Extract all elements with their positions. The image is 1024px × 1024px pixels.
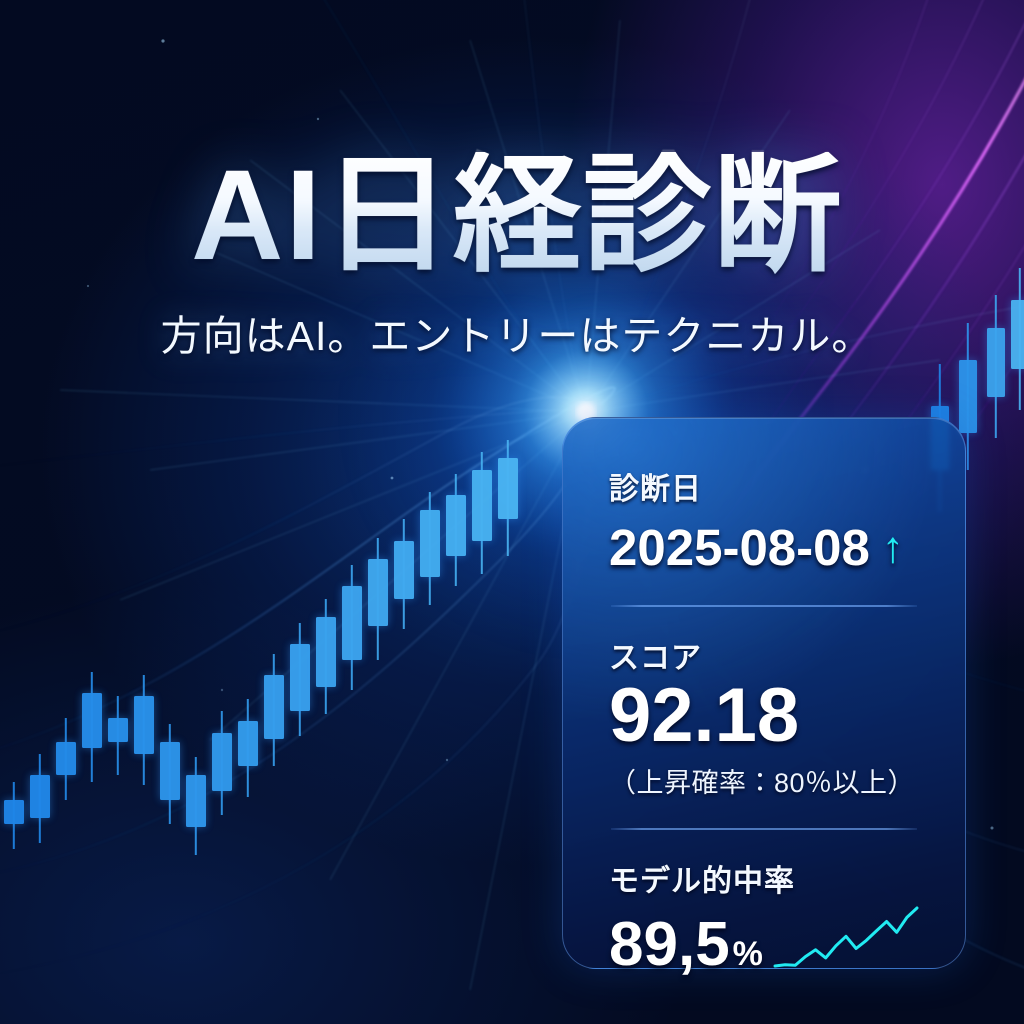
candle-body <box>394 541 414 599</box>
diagnosis-summary-card[interactable]: 診断日 2025-08-08 ↑ スコア 92.18 （上昇確率：80％以上） … <box>562 417 966 969</box>
candlestick <box>4 782 24 849</box>
candlestick <box>420 492 440 605</box>
candle-wick <box>481 452 483 574</box>
candle-body <box>316 617 336 687</box>
candle-body <box>238 721 258 767</box>
candle-wick <box>143 675 145 785</box>
candle-wick <box>39 754 41 842</box>
candle-wick <box>117 696 119 775</box>
candlestick <box>238 699 258 797</box>
candle-wick <box>221 711 223 815</box>
score-value: 92.18 <box>609 679 921 753</box>
candle-wick <box>429 492 431 605</box>
candle-body <box>160 742 180 800</box>
accuracy-sparkline <box>771 904 921 970</box>
candlestick <box>212 711 232 815</box>
candle-body <box>212 733 232 791</box>
headline-block: AI日経診断 方向はAI。エントリーはテクニカル。 <box>0 152 1024 362</box>
candle-wick <box>169 724 171 825</box>
candlestick <box>56 718 76 800</box>
candle-wick <box>91 672 93 782</box>
candle-body <box>82 693 102 748</box>
accuracy-row: モデル的中率 89,5 % <box>609 856 921 976</box>
percent-unit: % <box>733 937 763 971</box>
accuracy-value-row: 89,5 % <box>609 904 921 976</box>
score-label: スコア <box>609 633 921 677</box>
accuracy-label: モデル的中率 <box>609 856 921 900</box>
arrow-up-icon: ↑ <box>882 526 904 570</box>
date-label: 診断日 <box>609 464 921 508</box>
candle-wick <box>195 757 197 855</box>
candlestick <box>316 599 336 715</box>
candlestick <box>134 675 154 785</box>
score-row: スコア 92.18 （上昇確率：80％以上） <box>609 633 921 800</box>
candle-body <box>472 470 492 540</box>
candle-wick <box>325 599 327 715</box>
candlestick <box>290 623 310 736</box>
accuracy-value: 89,5 <box>609 914 730 976</box>
candle-wick <box>403 519 405 629</box>
candle-wick <box>455 474 457 587</box>
candle-body <box>30 775 50 818</box>
candle-body <box>134 696 154 754</box>
candle-body <box>56 742 76 776</box>
candlestick <box>264 654 284 767</box>
divider-1 <box>611 605 917 607</box>
candle-wick <box>65 718 67 800</box>
sparkline-path <box>775 908 917 966</box>
score-note: （上昇確率：80％以上） <box>609 761 921 800</box>
candle-wick <box>299 623 301 736</box>
candlestick <box>446 474 466 587</box>
candlestick <box>186 757 206 855</box>
candlestick <box>368 538 388 660</box>
date-value: 2025-08-08 <box>609 518 870 577</box>
date-row: 診断日 2025-08-08 ↑ <box>609 464 921 577</box>
candle-body <box>4 800 24 824</box>
candle-body <box>498 458 518 519</box>
divider-2 <box>611 828 917 830</box>
accuracy-value-group: 89,5 % <box>609 914 763 976</box>
candle-wick <box>247 699 249 797</box>
candle-body <box>959 360 977 434</box>
candlestick <box>30 754 50 842</box>
candle-wick <box>377 538 379 660</box>
poster-canvas: AI日経診断 方向はAI。エントリーはテクニカル。 診断日 2025-08-08… <box>0 0 1024 1024</box>
candle-body <box>368 559 388 626</box>
candle-body <box>420 510 440 577</box>
candle-wick <box>13 782 15 849</box>
candlestick <box>498 440 518 556</box>
candle-body <box>290 644 310 711</box>
candlestick <box>394 519 414 629</box>
candlestick <box>342 565 362 690</box>
candle-body <box>342 586 362 659</box>
page-title: AI日経診断 <box>10 152 1024 280</box>
candle-wick <box>273 654 275 767</box>
page-subtitle: 方向はAI。エントリーはテクニカル。 <box>10 302 1024 362</box>
candlestick <box>82 672 102 782</box>
candlestick <box>108 696 128 775</box>
candlestick <box>472 452 492 574</box>
candle-wick <box>351 565 353 690</box>
date-value-row: 2025-08-08 ↑ <box>609 518 921 577</box>
candle-body <box>186 775 206 827</box>
candle-body <box>446 495 466 556</box>
candle-body <box>108 718 128 742</box>
candlestick <box>160 724 180 825</box>
candle-wick <box>507 440 509 556</box>
candle-body <box>264 675 284 739</box>
